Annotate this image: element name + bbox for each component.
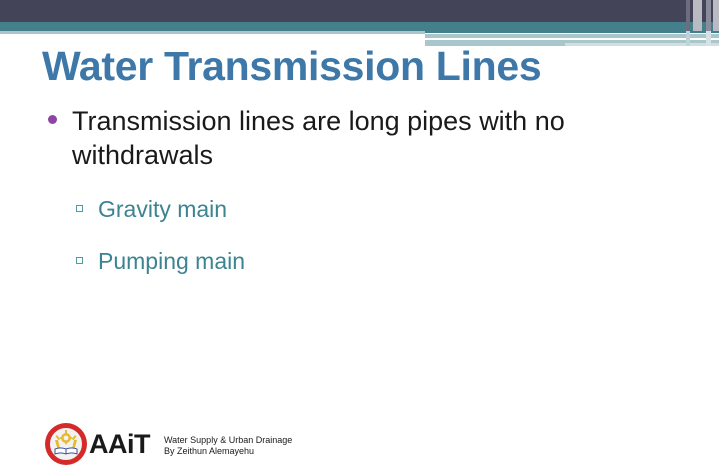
bullet-text: Transmission lines are long pipes with n… xyxy=(72,106,565,170)
footer-author: By Zeithun Alemayehu xyxy=(164,446,292,457)
square-bullet-icon xyxy=(76,205,83,212)
bullet-item-level2-pumping-main: Pumping main xyxy=(0,246,719,276)
banner-vertical-stripe-1 xyxy=(686,0,690,31)
bullet-text: Pumping main xyxy=(98,248,245,274)
bullet-item-level1: Transmission lines are long pipes with n… xyxy=(0,104,719,172)
bullet-text: Gravity main xyxy=(98,196,227,222)
slide-title: Water Transmission Lines xyxy=(42,43,541,90)
aait-seal-logo-icon xyxy=(44,422,88,466)
footer-course-info: Water Supply & Urban Drainage By Zeithun… xyxy=(164,432,292,457)
banner-vertical-stripe-6 xyxy=(706,31,711,46)
aait-wordmark: AAiT xyxy=(89,429,150,460)
bullet-dot-icon xyxy=(48,115,57,124)
banner-vertical-stripe-5 xyxy=(686,31,690,46)
banner-band-pale-short xyxy=(565,43,719,46)
slide-body: Transmission lines are long pipes with n… xyxy=(0,104,719,298)
footer-course-title: Water Supply & Urban Drainage xyxy=(164,435,292,446)
bullet-item-level2-gravity-main: Gravity main xyxy=(0,194,719,224)
presentation-slide: Water Transmission Lines Transmission li… xyxy=(0,0,719,473)
banner-band-pale-left xyxy=(0,31,425,34)
banner-vertical-stripe-3 xyxy=(706,0,711,31)
square-bullet-icon xyxy=(76,257,83,264)
banner-band-dark xyxy=(0,0,719,22)
slide-header-banner xyxy=(0,0,719,46)
sub-bullet-list: Gravity main Pumping main xyxy=(0,194,719,276)
banner-vertical-stripe-2 xyxy=(693,0,702,31)
slide-footer: AAiT Water Supply & Urban Drainage By Ze… xyxy=(44,421,292,467)
banner-band-teal-right xyxy=(425,22,719,33)
banner-vertical-stripe-4 xyxy=(713,0,719,31)
